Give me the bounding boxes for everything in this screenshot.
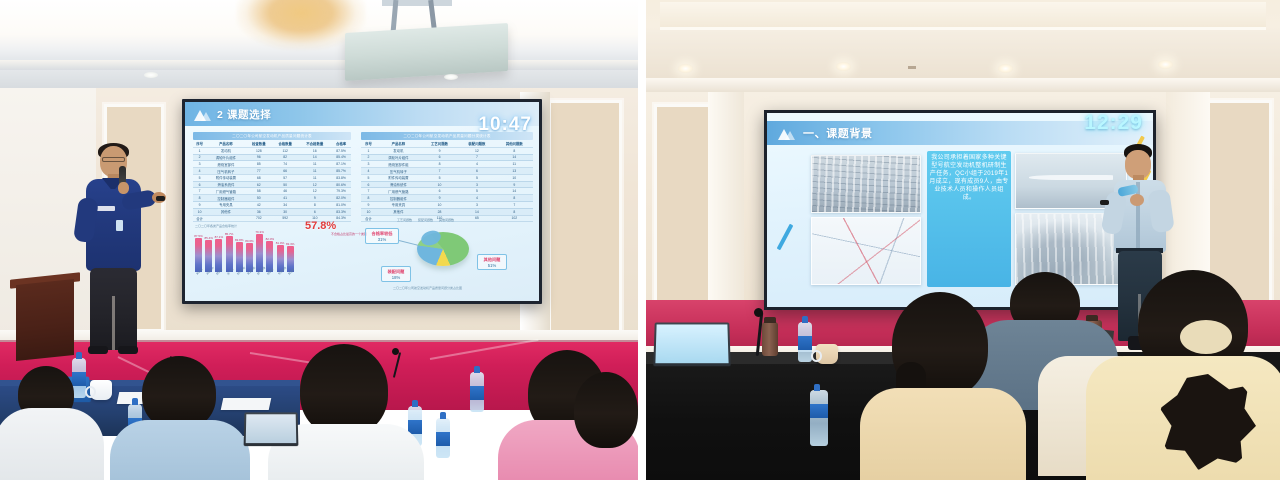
table-legend: 工艺问题数 装配问题数 其他问题数 bbox=[397, 218, 454, 222]
table-row: 3燃烧室部件85741187.1% bbox=[193, 161, 351, 168]
left-photo: 2 课题选择 10:47 二〇二〇年公司航空发动机产品质量问题统计表 序号 产品… bbox=[0, 0, 638, 480]
table-row: 1发动机1281121687.5% bbox=[193, 147, 351, 154]
water-bottle[interactable] bbox=[798, 322, 812, 362]
eyeglasses-icon bbox=[102, 157, 125, 162]
laptop[interactable] bbox=[244, 412, 299, 446]
slide-body: 二〇二〇年公司航空发动机产品质量问题统计表 序号 产品名称 检查数量 合格数量 … bbox=[185, 128, 539, 301]
pie-caption: 二〇二〇年公司航空发动机产品质量问题分类占比图 bbox=[393, 286, 462, 290]
tea-cup[interactable] bbox=[816, 344, 838, 364]
ceiling-band bbox=[646, 30, 1280, 78]
slide-table-right: 二〇二〇年公司航空发动机产品质量问题分类统计表 序号 产品名称 工艺问题数 装配… bbox=[361, 132, 533, 222]
table-row: 6滑油系统件62501280.6% bbox=[193, 181, 351, 188]
projection-screen: 2 课题选择 10:47 二〇二〇年公司航空发动机产品质量问题统计表 序号 产品… bbox=[182, 99, 542, 304]
audience-body bbox=[0, 408, 104, 480]
callout-box: 合格率较低 31% bbox=[365, 228, 399, 244]
table-row: 2涡轮叶片组件6714 bbox=[361, 154, 533, 161]
bar-chart: 二〇二〇年各类产品合格率统计 87.5% 85.4% 87.1% 85.7% 8… bbox=[195, 224, 294, 277]
audience-head bbox=[574, 372, 638, 448]
carpet-seam bbox=[430, 339, 539, 360]
audience-head bbox=[300, 344, 388, 436]
laptop-screen bbox=[246, 414, 297, 443]
bar-item: 82.0% bbox=[266, 237, 273, 273]
podium bbox=[16, 279, 74, 361]
downlight-icon bbox=[144, 72, 158, 78]
name-badge bbox=[96, 206, 115, 211]
hand-holding-microphone bbox=[118, 182, 129, 194]
water-bottle[interactable] bbox=[436, 418, 450, 458]
table-row: 10其他件28148 bbox=[361, 208, 533, 215]
downlight-icon bbox=[1158, 60, 1173, 69]
audience-body bbox=[110, 420, 250, 480]
table-row: 4压气机转子7613 bbox=[361, 168, 533, 175]
table-caption: 二〇二〇年公司航空发动机产品质量问题分类统计表 bbox=[361, 132, 533, 140]
ceiling-cove bbox=[0, 60, 638, 70]
bar bbox=[256, 234, 263, 272]
highlight-percentage: 57.8% bbox=[305, 220, 336, 232]
shoe bbox=[118, 346, 138, 354]
table-row: 2涡轮叶片组件96821485.4% bbox=[193, 154, 351, 161]
ceiling-sensor bbox=[908, 66, 916, 69]
hair-clip bbox=[1180, 320, 1232, 354]
collage-divider bbox=[638, 0, 646, 480]
bottle-label bbox=[436, 432, 450, 446]
pie-label-left: 装配问题 18% bbox=[381, 266, 411, 282]
leg-gap bbox=[112, 296, 115, 350]
documents[interactable] bbox=[221, 398, 272, 410]
table-row: 8控制器组件5041982.0% bbox=[193, 195, 351, 202]
table-row: 7厂用燃气管路58461279.3% bbox=[193, 188, 351, 195]
ceiling-recess bbox=[660, 2, 1266, 30]
table-row: 8控制器组件948 bbox=[361, 195, 533, 202]
table-row: 7厂用燃气管路6514 bbox=[361, 188, 533, 195]
bar-item: 87.1% bbox=[215, 235, 222, 273]
table-row: 3燃烧室部件组8411 bbox=[361, 161, 533, 168]
audience-body bbox=[860, 388, 1026, 480]
desk-microphone-head bbox=[754, 308, 763, 317]
bar bbox=[226, 236, 233, 272]
downlight-icon bbox=[836, 62, 851, 71]
table-row: 9专用夹具4234881.0% bbox=[193, 202, 351, 209]
audience-head bbox=[142, 356, 216, 430]
desk-microphone-head bbox=[392, 348, 399, 355]
downlight-icon bbox=[678, 64, 693, 73]
ceiling-projector bbox=[345, 23, 508, 81]
laptop[interactable] bbox=[653, 323, 730, 367]
projection-screen: 一、课题背景 12:29 我公司承担着国家多种关键型号航空发动机整机研制生产任务… bbox=[764, 110, 1156, 310]
hand bbox=[1130, 194, 1144, 206]
slide-title: 2 课题选择 bbox=[217, 107, 271, 122]
bar-item: 79.3% bbox=[256, 230, 263, 273]
table-row: 1发动机9128 bbox=[361, 147, 533, 154]
lanyard-card bbox=[116, 220, 123, 231]
right-photo: 一、课题背景 12:29 我公司承担着国家多种关键型号航空发动机整机研制生产任务… bbox=[646, 0, 1280, 480]
table-row: 10其他件3630683.3% bbox=[193, 208, 351, 215]
bottle-label bbox=[798, 336, 812, 350]
slide-title: 一、课题背景 bbox=[803, 125, 873, 141]
bar-item: 87.5% bbox=[195, 234, 202, 273]
presentation-clicker bbox=[156, 196, 165, 201]
downlight-icon bbox=[444, 74, 458, 80]
presenter-left bbox=[78, 146, 150, 356]
bottle-label bbox=[470, 386, 484, 400]
table-row: 5附件传动装置5510 bbox=[361, 174, 533, 181]
table-row: 4压气机转子77661185.7% bbox=[193, 168, 351, 175]
shoe bbox=[88, 346, 108, 354]
water-bottle[interactable] bbox=[72, 358, 86, 398]
table-caption: 二〇二〇年公司航空发动机产品质量问题统计表 bbox=[193, 132, 351, 140]
thermos[interactable] bbox=[762, 322, 778, 356]
bar-chart-caption: 二〇二〇年各类产品合格率统计 bbox=[195, 224, 294, 228]
table-row: 9专用夹具1037 bbox=[361, 202, 533, 209]
wall-panel bbox=[548, 100, 622, 336]
pie-label-right: 其他问题 51% bbox=[477, 254, 507, 270]
table-row: 6滑油系统件1039 bbox=[361, 181, 533, 188]
table-row: 5附件传动装置68571183.8% bbox=[193, 174, 351, 181]
bar-axis-labels: 发动机 涡轮叶片 燃烧室 压气机 附件传动 滑油系统 燃气管路 控制器 专用夹具… bbox=[195, 273, 294, 277]
slide-timer: 12:29 bbox=[1084, 113, 1143, 135]
highlight-note: 不合格占比最高的一个类别 bbox=[331, 232, 367, 236]
factory-assembly-photo bbox=[811, 155, 921, 213]
data-table: 序号 产品名称 工艺问题数 装配问题数 其他问题数 1发动机9128 2涡轮叶片… bbox=[361, 141, 533, 222]
laptop-screen bbox=[655, 324, 728, 363]
bar-item: 85.7% bbox=[226, 232, 233, 273]
accent-stripe-blue bbox=[777, 224, 794, 251]
slide-surface: 一、课题背景 12:29 我公司承担着国家多种关键型号航空发动机整机研制生产任务… bbox=[767, 113, 1153, 307]
slide-surface: 2 课题选择 10:47 二〇二〇年公司航空发动机产品质量问题统计表 序号 产品… bbox=[185, 102, 539, 301]
bottle-label bbox=[810, 404, 828, 418]
tea-cup[interactable] bbox=[90, 380, 112, 400]
network-diagram-photo bbox=[811, 217, 921, 285]
mountain-logo-icon bbox=[193, 108, 211, 121]
slide-table-left: 二〇二〇年公司航空发动机产品质量问题统计表 序号 产品名称 检查数量 合格数量 … bbox=[193, 132, 351, 222]
slide-text-block: 我公司承担着国家多种关键型号航空发动机整机研制生产任务，QC小组于2019年1月… bbox=[927, 151, 1011, 287]
downlight-icon bbox=[998, 64, 1013, 73]
data-table: 序号 产品名称 检查数量 合格数量 不合格数量 合格率 1发动机12811216… bbox=[193, 141, 351, 222]
bottle-label bbox=[72, 372, 86, 386]
water-bottle[interactable] bbox=[810, 390, 828, 446]
bar-chart-bars: 87.5% 85.4% 87.1% 85.7% 83.8% 80.6% 79.3… bbox=[195, 230, 294, 272]
water-bottle[interactable] bbox=[470, 372, 484, 412]
mountain-logo-icon bbox=[777, 127, 795, 140]
presentation-clicker bbox=[1100, 200, 1109, 205]
pie-chart bbox=[417, 232, 469, 272]
photo-collage: 2 课题选择 10:47 二〇二〇年公司航空发动机产品质量问题统计表 序号 产品… bbox=[0, 0, 1280, 480]
